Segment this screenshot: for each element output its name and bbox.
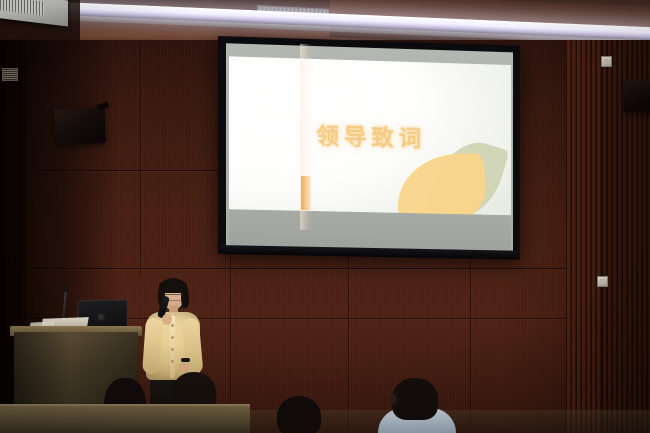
bench-row-front (0, 404, 250, 433)
screen-surface: 领导致词 (226, 43, 513, 252)
outlet-inner (604, 59, 609, 64)
cardigan-button (171, 348, 174, 351)
slide-decoration-yellow-petal (394, 153, 488, 216)
cardigan-button (171, 324, 174, 327)
cardigan-button (171, 336, 174, 339)
wall-seam-vertical (140, 46, 141, 276)
wall-vent-icon (2, 68, 18, 81)
bench-edge (0, 404, 250, 406)
presenter-hand-left (162, 314, 172, 325)
wall-speaker-left (54, 107, 106, 146)
cardigan-button (171, 360, 174, 363)
audience-member-head (392, 378, 438, 420)
audience-member-ear (390, 394, 397, 404)
wall-speaker-right (624, 80, 650, 112)
audience-member-head (277, 396, 321, 433)
wall-outlet (597, 276, 608, 287)
screen-frame: 领导致词 (218, 36, 520, 260)
projected-slide: 领导致词 (229, 56, 511, 215)
screen-light-spill-orange (301, 176, 311, 210)
photo-scene: 领导致词 (0, 0, 650, 433)
wall-outlet (601, 56, 612, 67)
presenter-hand-right (179, 362, 189, 372)
outlet-inner (600, 279, 605, 284)
slide-title: 领导致词 (229, 114, 511, 155)
wall-seam-vertical (470, 252, 471, 433)
projector-vent-icon (0, 0, 44, 16)
wall-seam-vertical (348, 252, 349, 433)
laptop-logo-icon (97, 313, 105, 321)
projection-screen: 领导致词 (218, 36, 526, 254)
